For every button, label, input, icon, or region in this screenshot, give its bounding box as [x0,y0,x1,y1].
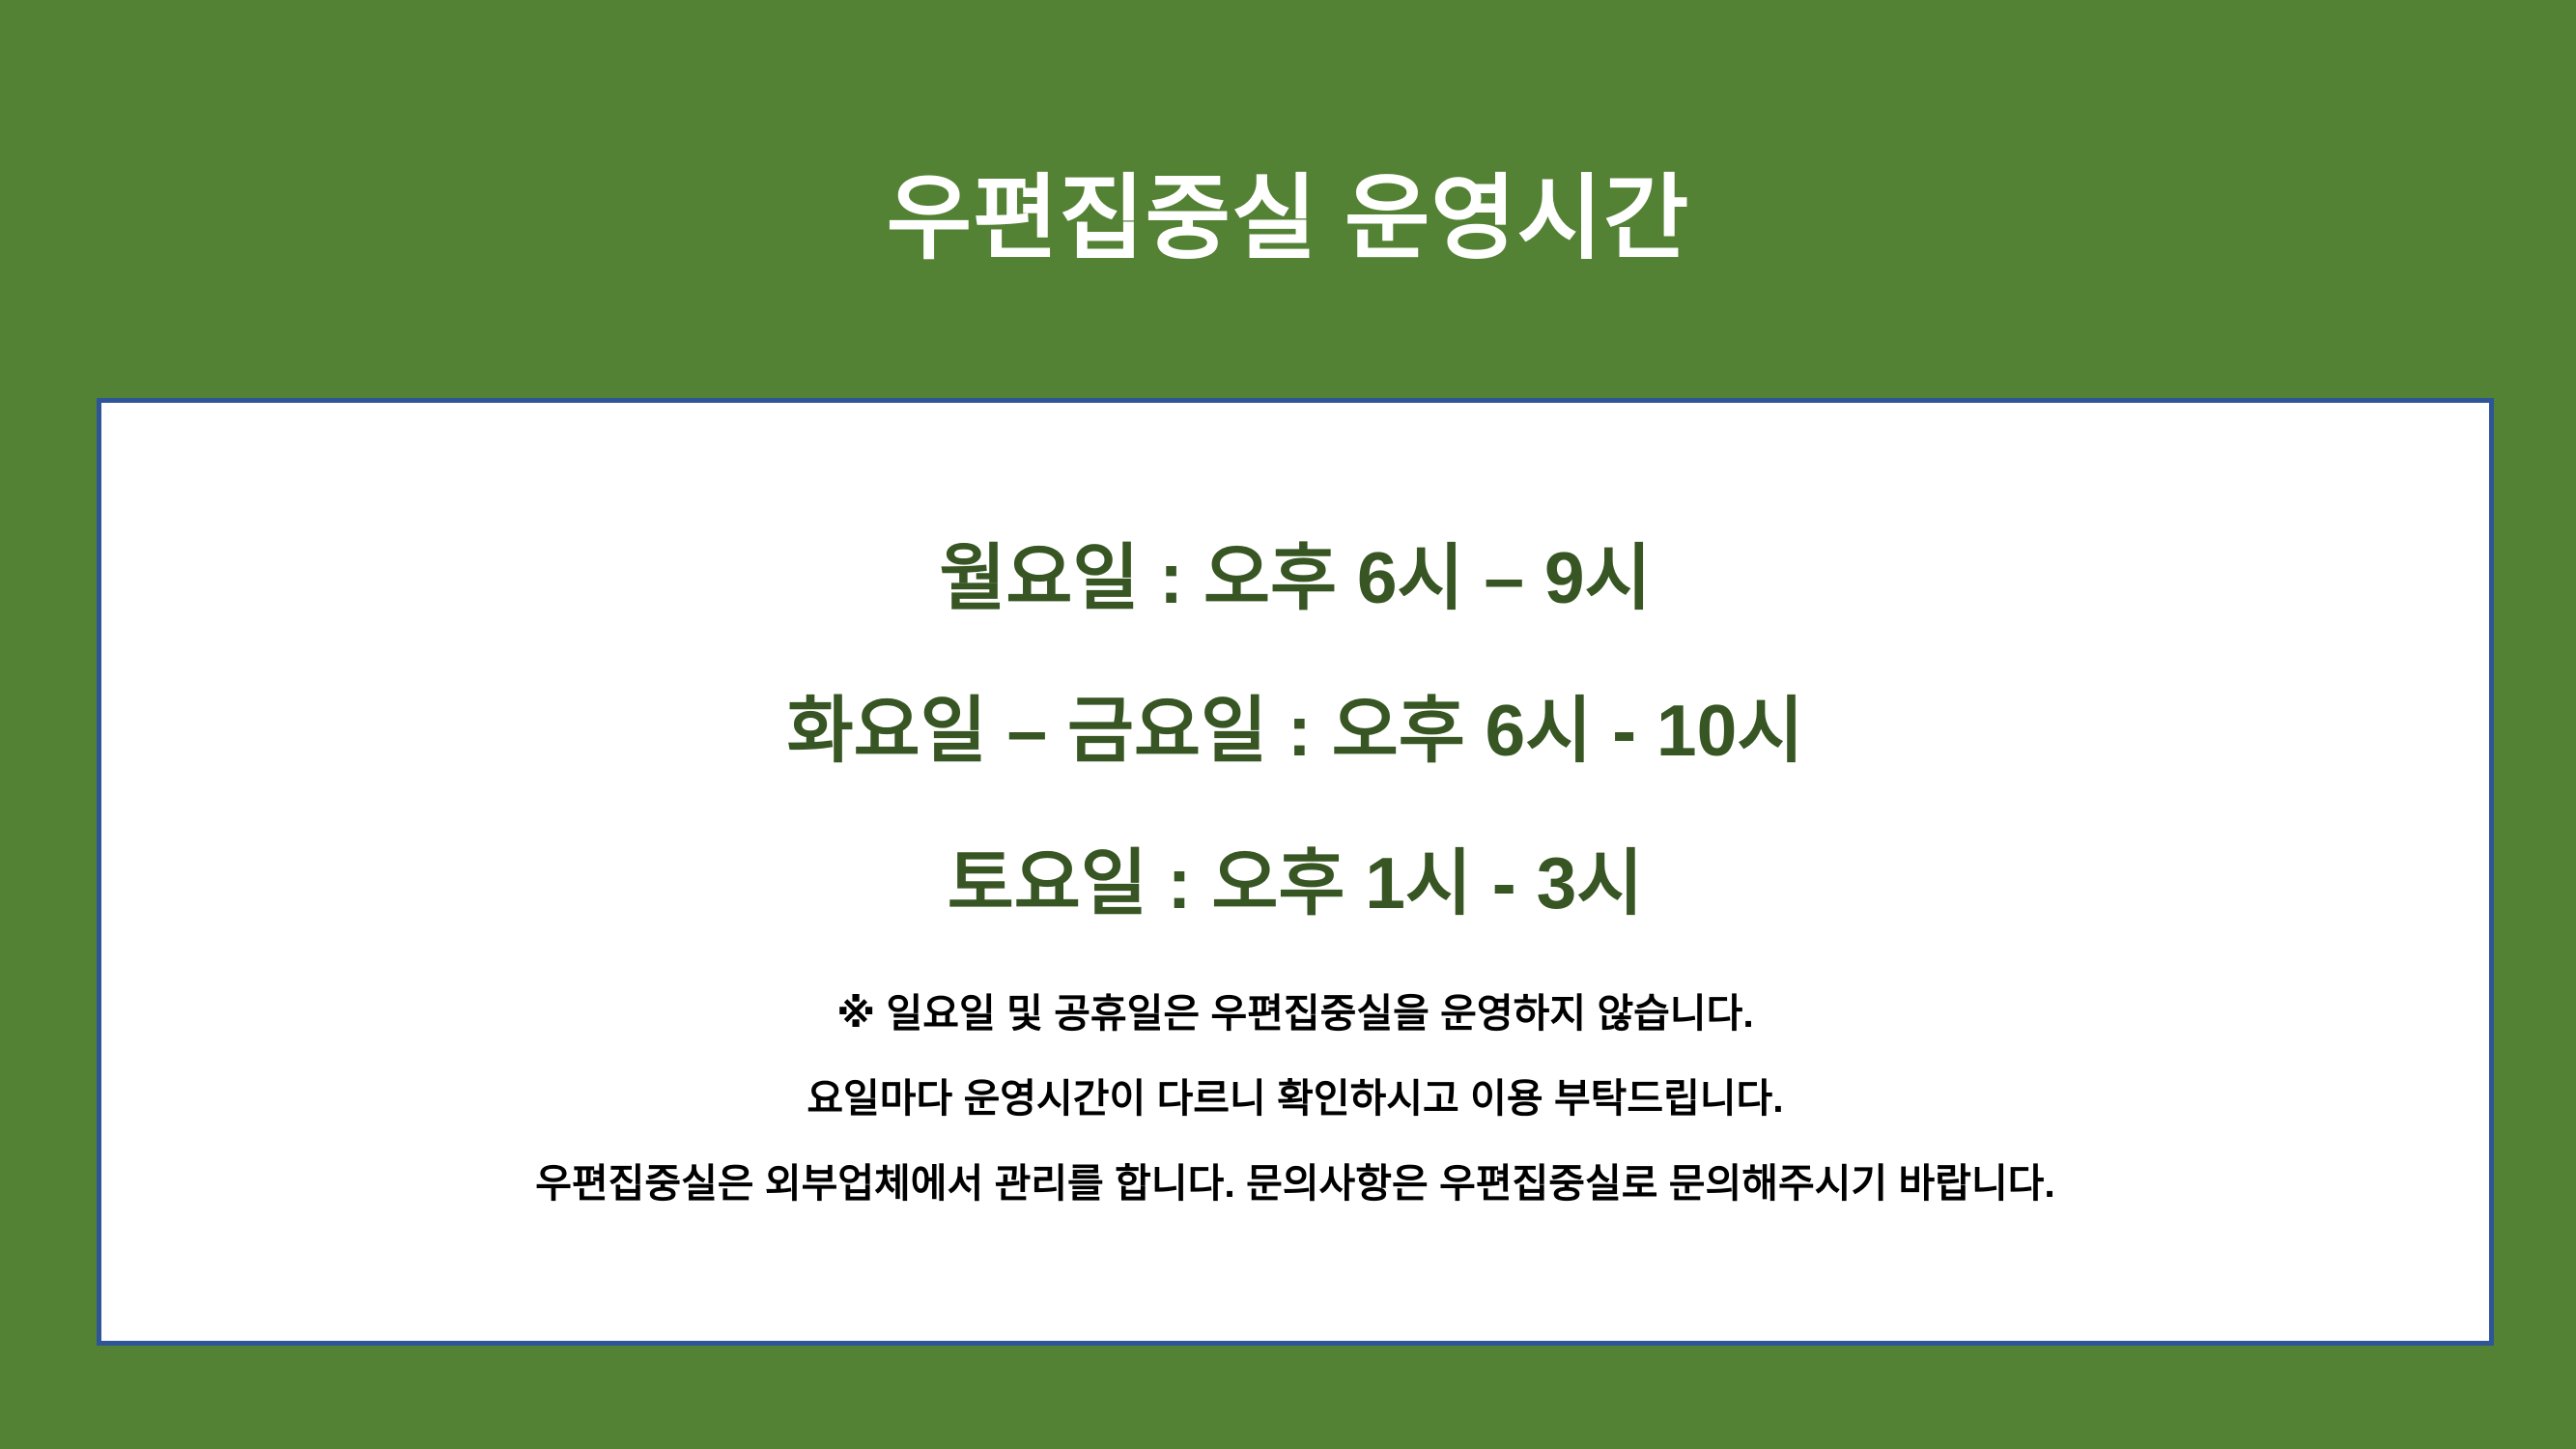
note-check-hours: 요일마다 운영시간이 다르니 확인하시고 이용 부탁드립니다. [101,1056,2489,1141]
schedule-row-monday: 월요일 : 오후 6시 – 9시 [101,501,2489,654]
notice-list: ※ 일요일 및 공휴일은 우편집중실을 운영하지 않습니다. 요일마다 운영시간… [101,971,2489,1226]
page-title: 우편집중실 운영시간 [0,166,2576,272]
notice-slide: 우편집중실 운영시간 월요일 : 오후 6시 – 9시 화요일 – 금요일 : … [0,0,2576,1449]
schedule-row-tuesday-friday: 화요일 – 금요일 : 오후 6시 - 10시 [101,654,2489,807]
schedule-row-saturday: 토요일 : 오후 1시 - 3시 [101,807,2489,959]
info-card: 월요일 : 오후 6시 – 9시 화요일 – 금요일 : 오후 6시 - 10시… [97,398,2494,1346]
operating-hours-list: 월요일 : 오후 6시 – 9시 화요일 – 금요일 : 오후 6시 - 10시… [101,501,2489,959]
note-external-management-contact: 우편집중실은 외부업체에서 관리를 합니다. 문의사항은 우편집중실로 문의해주… [101,1141,2489,1226]
note-closed-sunday-holiday: ※ 일요일 및 공휴일은 우편집중실을 운영하지 않습니다. [101,971,2489,1056]
